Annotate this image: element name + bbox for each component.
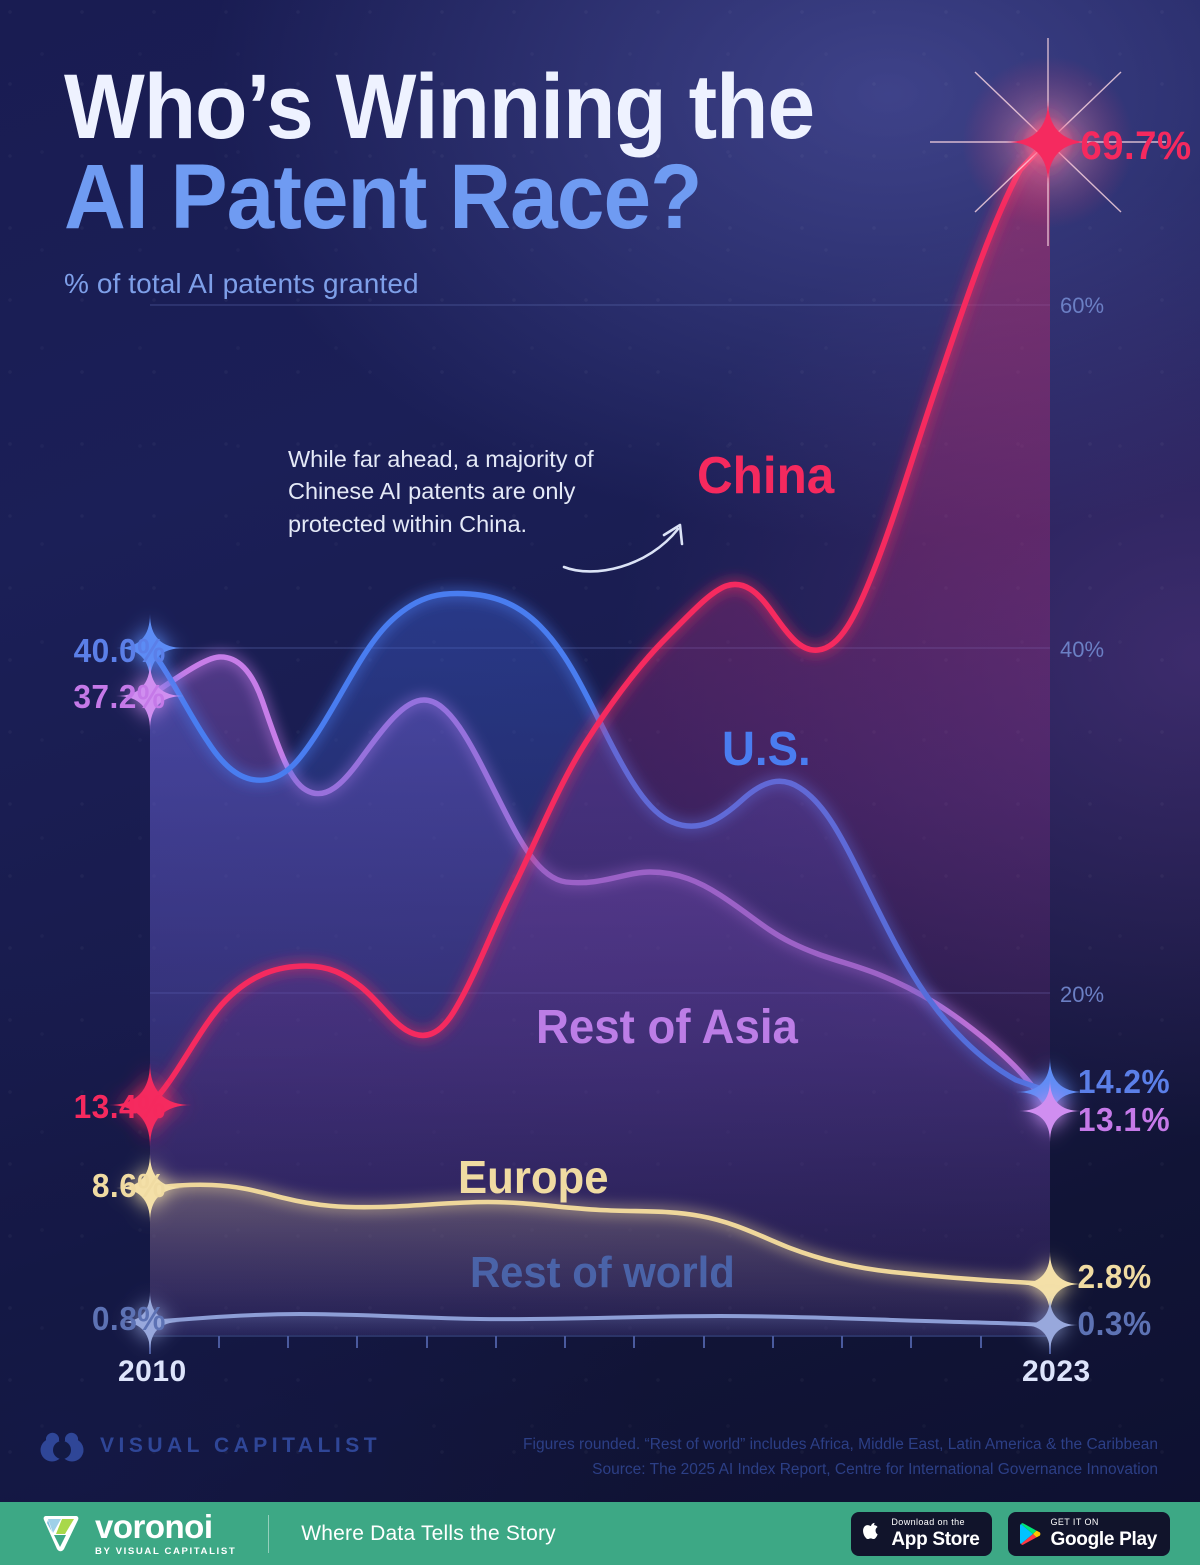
binoculars-icon [40, 1428, 84, 1464]
value-label-us-start: 40.0% [60, 632, 166, 670]
value-label-china-start: 13.4% [60, 1088, 166, 1126]
voronoi-logo[interactable]: voronoi BY VISUAL CAPITALIST [38, 1510, 236, 1557]
voronoi-tagline: Where Data Tells the Story [301, 1522, 556, 1546]
source-attribution: Figures rounded. “Rest of world” include… [523, 1432, 1158, 1482]
value-label-asia-end: 13.1% [1078, 1101, 1170, 1139]
header: Who’s Winning the AI Patent Race? % of t… [64, 62, 904, 300]
gridline-label-40: 40% [1060, 637, 1104, 663]
bar-divider [268, 1515, 269, 1553]
series-label-us: U.S. [722, 722, 811, 777]
series-label-rest-of-asia: Rest of Asia [536, 1000, 798, 1055]
value-label-row-end: 0.3% [1078, 1305, 1152, 1343]
value-label-asia-start: 37.2% [48, 678, 165, 716]
annotation-arrow-icon [560, 505, 720, 575]
voronoi-wordmark: voronoi [95, 1510, 236, 1543]
series-label-europe: Europe [458, 1150, 609, 1204]
x-axis-label-end: 2023 [1022, 1355, 1091, 1389]
value-label-europe-start: 8.6% [68, 1167, 166, 1205]
app-store-big-text: App Store [891, 1530, 979, 1549]
value-label-china-end: 69.7% [1080, 124, 1191, 169]
series-label-rest-of-world: Rest of world [470, 1248, 735, 1298]
app-store-small-text: Download on the [891, 1518, 979, 1527]
google-play-small-text: GET IT ON [1050, 1518, 1157, 1527]
voronoi-bottom-bar: voronoi BY VISUAL CAPITALIST Where Data … [0, 1502, 1200, 1565]
value-label-row-start: 0.8% [68, 1300, 166, 1338]
page-title-line-2: AI Patent Race? [64, 152, 845, 242]
series-label-china: China [697, 446, 834, 506]
voronoi-byline: BY VISUAL CAPITALIST [95, 1546, 236, 1557]
visual-capitalist-logo: VISUAL CAPITALIST [40, 1428, 381, 1464]
figures-note: Figures rounded. “Rest of world” include… [523, 1432, 1158, 1457]
page-title-line-1: Who’s Winning the [64, 62, 845, 152]
visual-capitalist-wordmark: VISUAL CAPITALIST [100, 1434, 381, 1458]
value-label-us-end: 14.2% [1078, 1063, 1170, 1101]
source-line: Source: The 2025 AI Index Report, Centre… [523, 1457, 1158, 1482]
app-store-badge[interactable]: Download on the App Store [851, 1512, 992, 1556]
gridline-label-20: 20% [1060, 982, 1104, 1008]
voronoi-mark-icon [38, 1510, 84, 1556]
google-play-badge[interactable]: GET IT ON Google Play [1008, 1512, 1170, 1556]
apple-icon [862, 1522, 882, 1546]
page-subtitle: % of total AI patents granted [64, 268, 904, 300]
x-axis-label-start: 2010 [118, 1355, 187, 1389]
google-play-icon [1019, 1522, 1041, 1546]
google-play-big-text: Google Play [1050, 1530, 1157, 1549]
x-axis [150, 1336, 1050, 1354]
store-badges: Download on the App Store GET IT ON Goog… [851, 1512, 1170, 1556]
gridline-label-60: 60% [1060, 293, 1104, 319]
value-label-europe-end: 2.8% [1078, 1258, 1152, 1296]
infographic-root: Who’s Winning the AI Patent Race? % of t… [0, 0, 1200, 1565]
